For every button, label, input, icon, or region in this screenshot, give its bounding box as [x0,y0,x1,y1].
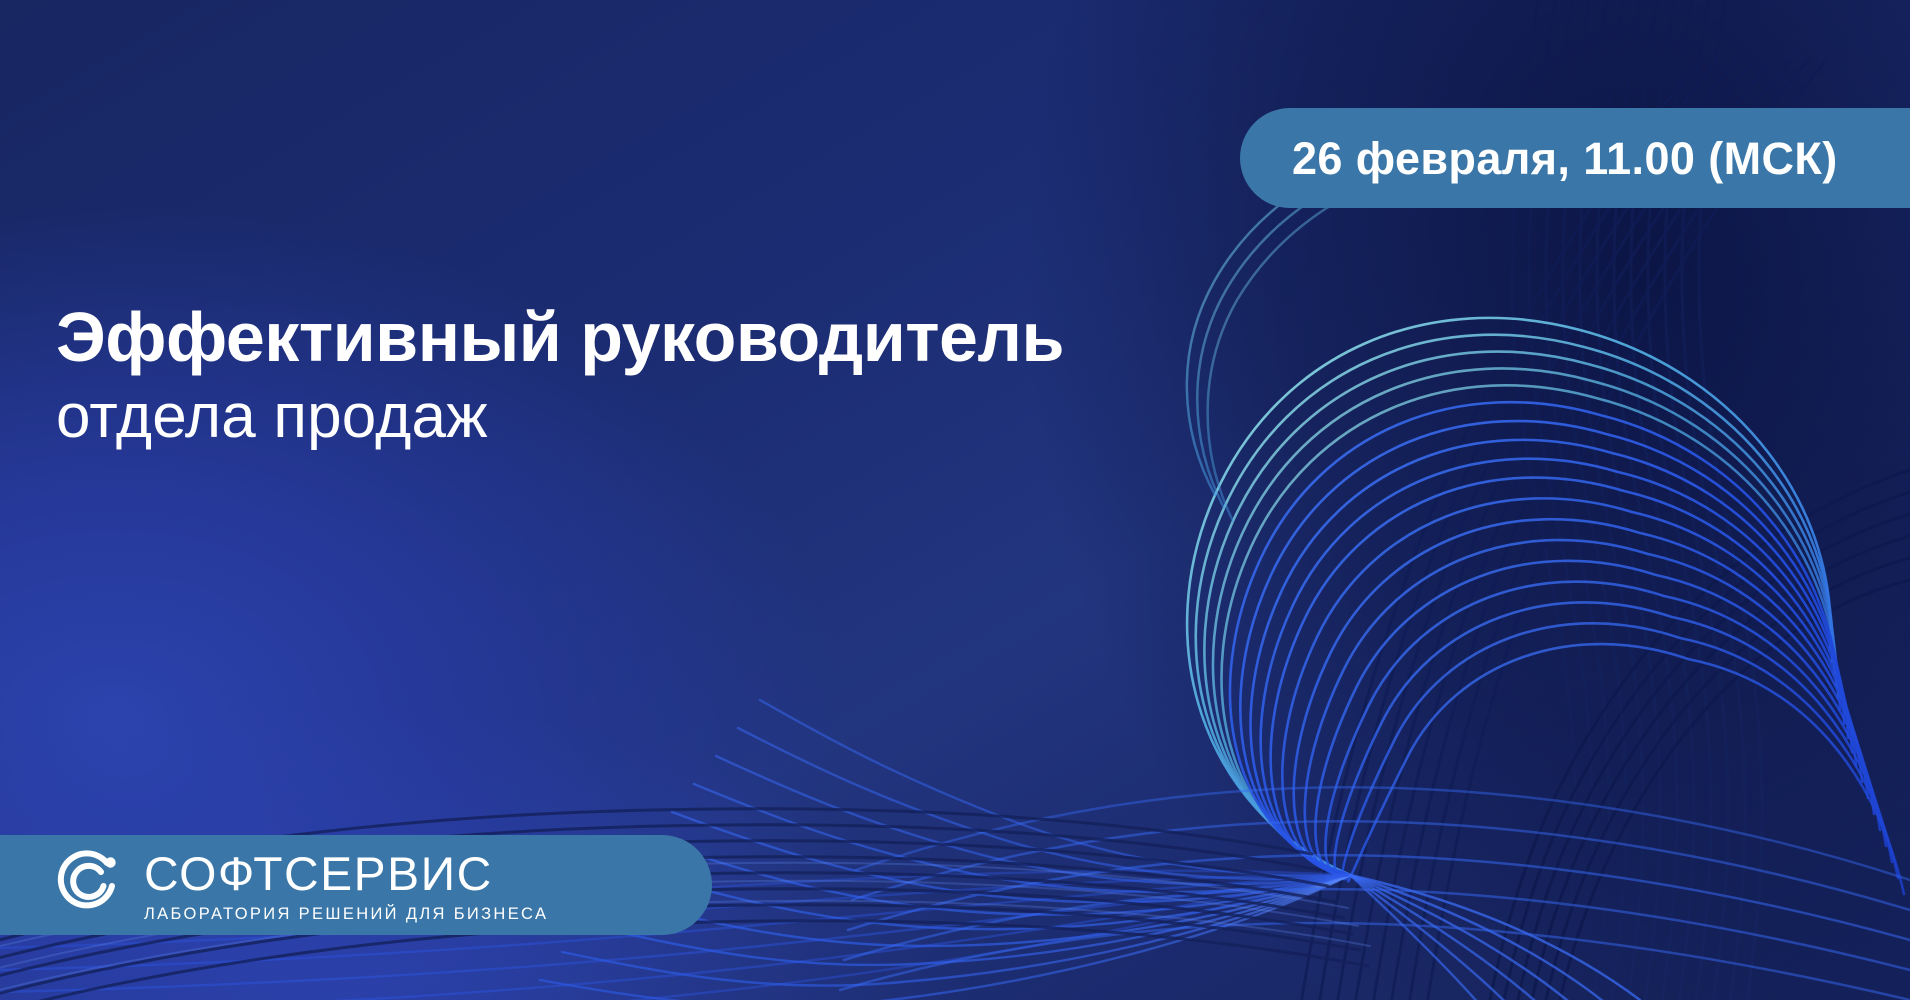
softservice-ci-mark [52,848,126,922]
headline-secondary: отдела продаж [56,380,1206,453]
date-badge: 26 февраля, 11.00 (МСК) [1240,108,1910,208]
logo-wordmark: СОФТСЕРВИС [144,850,556,897]
headline-block: Эффективный руководитель отдела продаж [56,300,1206,453]
webinar-banner: 26 февраля, 11.00 (МСК) Эффективный руко… [0,0,1910,1000]
logo-text-block: СОФТСЕРВИС ЛАБОРАТОРИЯ РЕШЕНИЙ ДЛЯ БИЗНЕ… [144,848,548,923]
logo-pill: СОФТСЕРВИС ЛАБОРАТОРИЯ РЕШЕНИЙ ДЛЯ БИЗНЕ… [0,835,712,935]
logo-tagline: ЛАБОРАТОРИЯ РЕШЕНИЙ ДЛЯ БИЗНЕСА [144,906,548,923]
headline-primary: Эффективный руководитель [56,300,1206,376]
date-badge-text: 26 февраля, 11.00 (МСК) [1292,136,1838,181]
